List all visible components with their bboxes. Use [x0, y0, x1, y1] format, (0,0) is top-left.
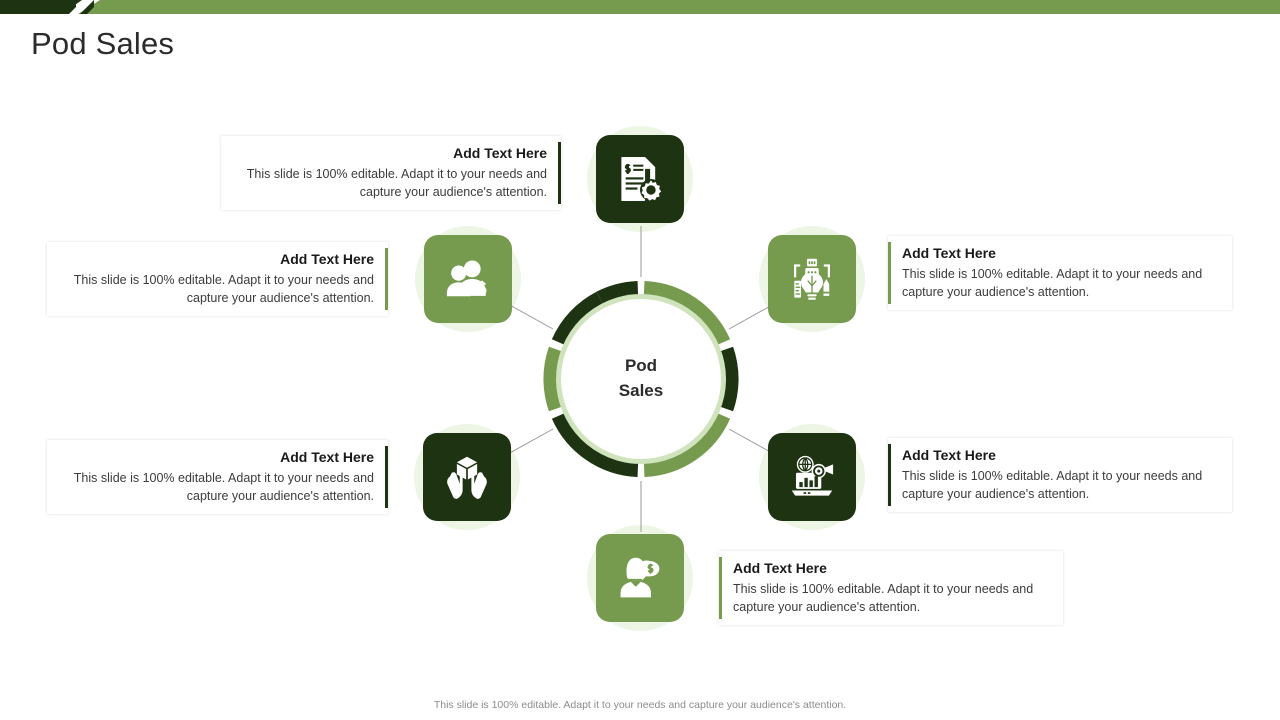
callout-body: This slide is 100% editable. Adapt it to…	[733, 580, 1049, 616]
node-laptop-globe-target[interactable]	[768, 433, 856, 521]
lightbulb-tools-icon	[785, 252, 839, 306]
footer-note: This slide is 100% editable. Adapt it to…	[0, 699, 1280, 711]
laptop-globe-target-icon	[785, 450, 839, 504]
callout-accent-bar	[385, 248, 388, 310]
hands-holding-box-icon	[440, 450, 494, 504]
callout-accent-bar	[719, 557, 722, 619]
callout-body: This slide is 100% editable. Adapt it to…	[235, 165, 547, 201]
gear-badge	[640, 179, 662, 201]
callout-3[interactable]: Add Text Here This slide is 100% editabl…	[888, 438, 1232, 512]
people-dollar-icon	[441, 252, 495, 306]
hub: Pod Sales	[541, 279, 741, 479]
callout-title: Add Text Here	[902, 245, 1218, 262]
node-lightbulb-tools[interactable]	[768, 235, 856, 323]
callout-accent-bar	[888, 242, 891, 304]
callout-1[interactable]: Add Text Here This slide is 100% editabl…	[221, 136, 561, 210]
hub-center: Pod Sales	[561, 299, 721, 459]
callout-5[interactable]: Add Text Here This slide is 100% editabl…	[47, 440, 388, 514]
callout-title: Add Text Here	[235, 145, 547, 162]
node-hands-holding-box[interactable]	[423, 433, 511, 521]
callout-accent-bar	[888, 444, 891, 506]
callout-body: This slide is 100% editable. Adapt it to…	[61, 469, 374, 505]
hub-segment-6	[550, 349, 555, 409]
hub-label-line-2: Sales	[619, 381, 663, 400]
hub-label-line-1: Pod	[625, 356, 657, 375]
hub-segment-1	[600, 288, 638, 298]
hub-segment-3	[726, 349, 731, 409]
callout-body: This slide is 100% editable. Adapt it to…	[902, 265, 1218, 301]
node-people-dollar[interactable]	[424, 235, 512, 323]
hub-label: Pod Sales	[619, 354, 663, 403]
callout-title: Add Text Here	[902, 447, 1218, 464]
invoice-dollar-gear-icon	[613, 152, 667, 206]
callout-title: Add Text Here	[61, 449, 374, 466]
pod-sales-hub-spoke-diagram: Pod Sales	[0, 0, 1280, 720]
node-invoice-dollar-gear[interactable]	[596, 135, 684, 223]
callout-2[interactable]: Add Text Here This slide is 100% editabl…	[888, 236, 1232, 310]
person-dollar-speech-icon	[613, 551, 667, 605]
callout-title: Add Text Here	[733, 560, 1049, 577]
callout-6[interactable]: Add Text Here This slide is 100% editabl…	[47, 242, 388, 316]
callout-title: Add Text Here	[61, 251, 374, 268]
callout-body: This slide is 100% editable. Adapt it to…	[61, 271, 374, 307]
node-person-dollar-speech[interactable]	[596, 534, 684, 622]
callout-accent-bar	[385, 446, 388, 508]
callout-body: This slide is 100% editable. Adapt it to…	[902, 467, 1218, 503]
callout-accent-bar	[558, 142, 561, 204]
callout-4[interactable]: Add Text Here This slide is 100% editabl…	[719, 551, 1063, 625]
